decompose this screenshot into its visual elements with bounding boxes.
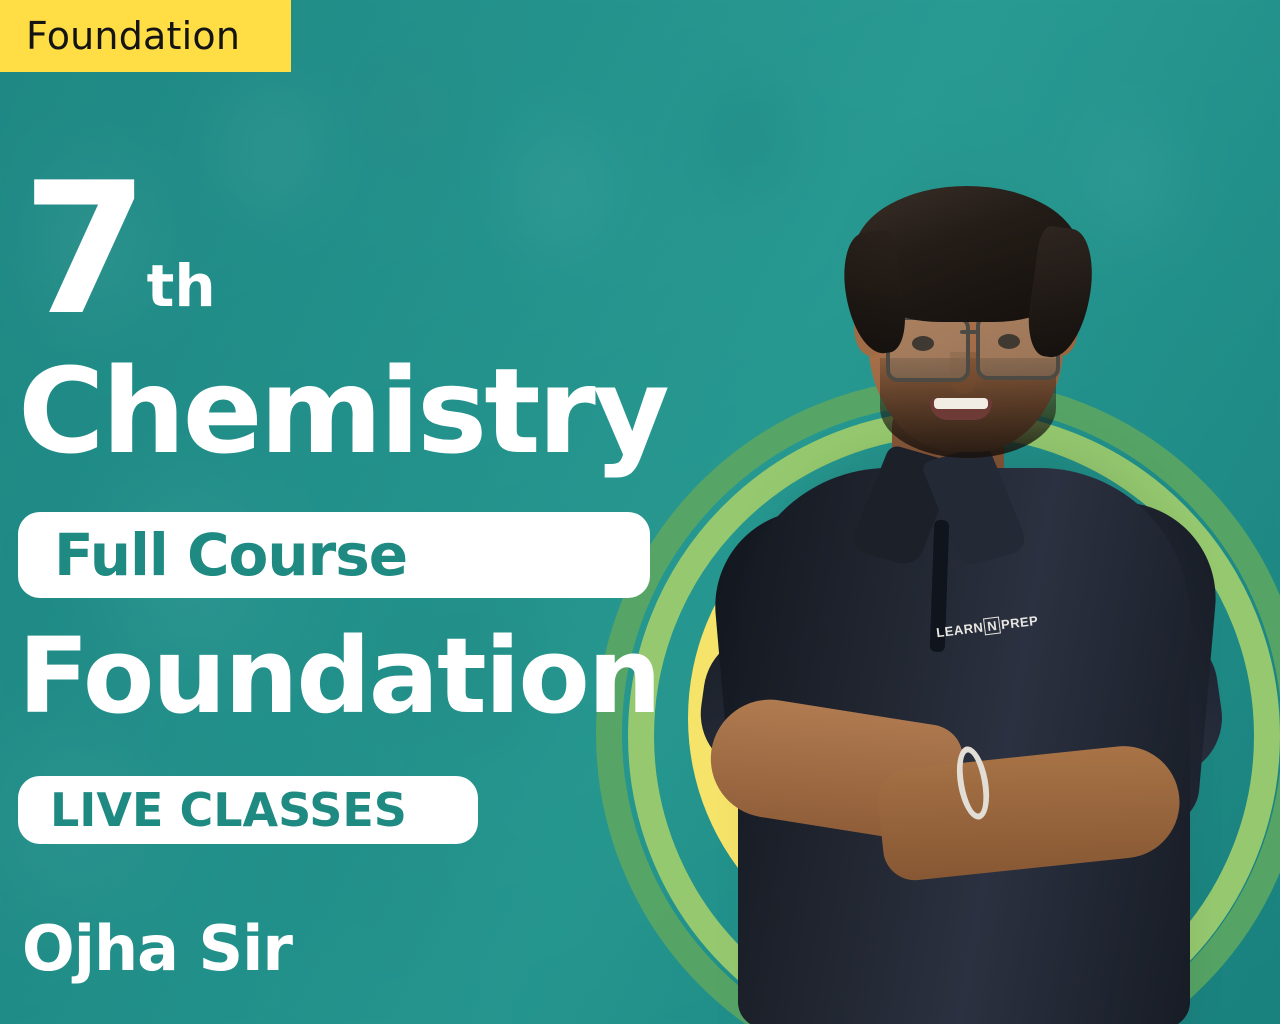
shirt-logo-mark: N bbox=[983, 616, 1001, 635]
poster-canvas: LEARNNPREP Foundation 7th Chemistry bbox=[0, 0, 1280, 1024]
course-type-pill: Full Course bbox=[18, 512, 650, 598]
grade-number: 7 bbox=[22, 143, 145, 355]
program-heading: Foundation bbox=[18, 624, 660, 728]
foundation-badge-label: Foundation bbox=[26, 14, 240, 58]
grade-ordinal-suffix: th bbox=[147, 252, 216, 320]
instructor-name: Ojha Sir bbox=[22, 918, 292, 980]
grade-heading: 7th bbox=[22, 158, 216, 340]
class-format-pill: LIVE CLASSES bbox=[18, 776, 478, 844]
subject-heading: Chemistry bbox=[18, 352, 667, 470]
instructor-photo: LEARNNPREP bbox=[640, 150, 1260, 1024]
shirt-logo-right-text: PREP bbox=[1000, 613, 1039, 632]
foundation-badge: Foundation bbox=[0, 0, 291, 72]
glasses-bridge bbox=[960, 330, 980, 334]
instructor-mouth bbox=[930, 398, 992, 420]
poster-copy: Foundation 7th Chemistry Full Course Fou… bbox=[0, 0, 700, 1024]
class-format-label: LIVE CLASSES bbox=[50, 787, 407, 833]
course-type-label: Full Course bbox=[54, 526, 407, 584]
instructor-teeth bbox=[934, 398, 988, 409]
